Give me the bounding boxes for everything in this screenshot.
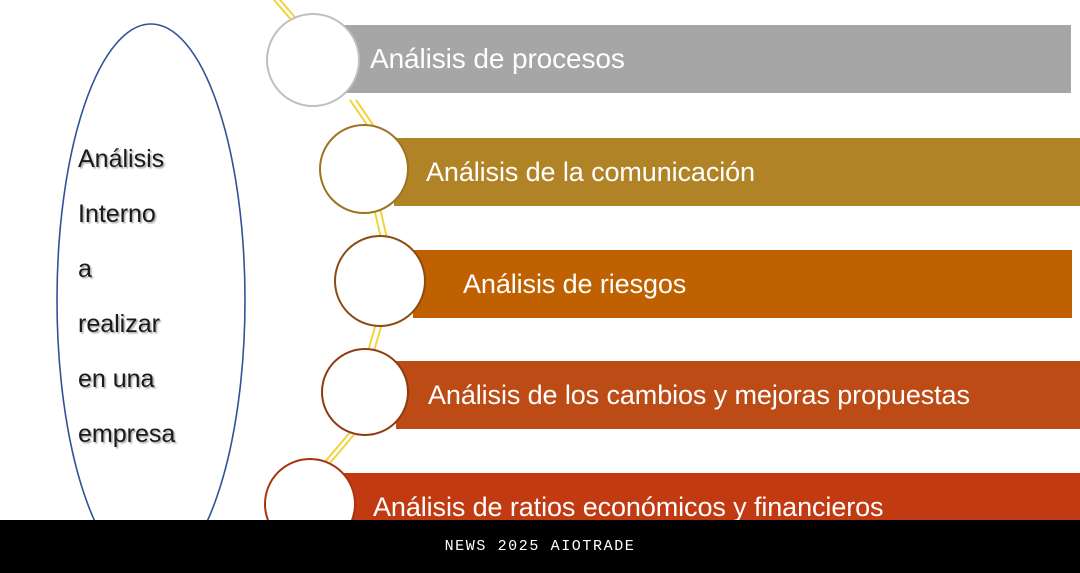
footer-banner: NEWS 2025 AIOTRADE [0, 520, 1080, 573]
ellipse-text-block: Análisis Interno a realizar en una empre… [78, 132, 238, 462]
ellipse-text-line-2: Interno [78, 187, 238, 242]
milestone-circle-4[interactable] [322, 349, 408, 435]
ellipse-text-line-1: Análisis [78, 132, 238, 187]
milestone-circle-3[interactable] [335, 236, 425, 326]
ellipse-text-line-6: empresa [78, 407, 238, 462]
ellipse-text-line-4: realizar [78, 297, 238, 352]
milestone-circle-1[interactable] [267, 14, 359, 106]
footer-watermark-text: NEWS 2025 AIOTRADE [445, 538, 636, 555]
milestone-circles [265, 14, 425, 549]
ellipse-text-line-3: a [78, 242, 238, 297]
ellipse-text-line-5: en una [78, 352, 238, 407]
milestone-circle-2[interactable] [320, 125, 408, 213]
slide-canvas: Análisis de procesos Análisis de la comu… [0, 0, 1080, 573]
